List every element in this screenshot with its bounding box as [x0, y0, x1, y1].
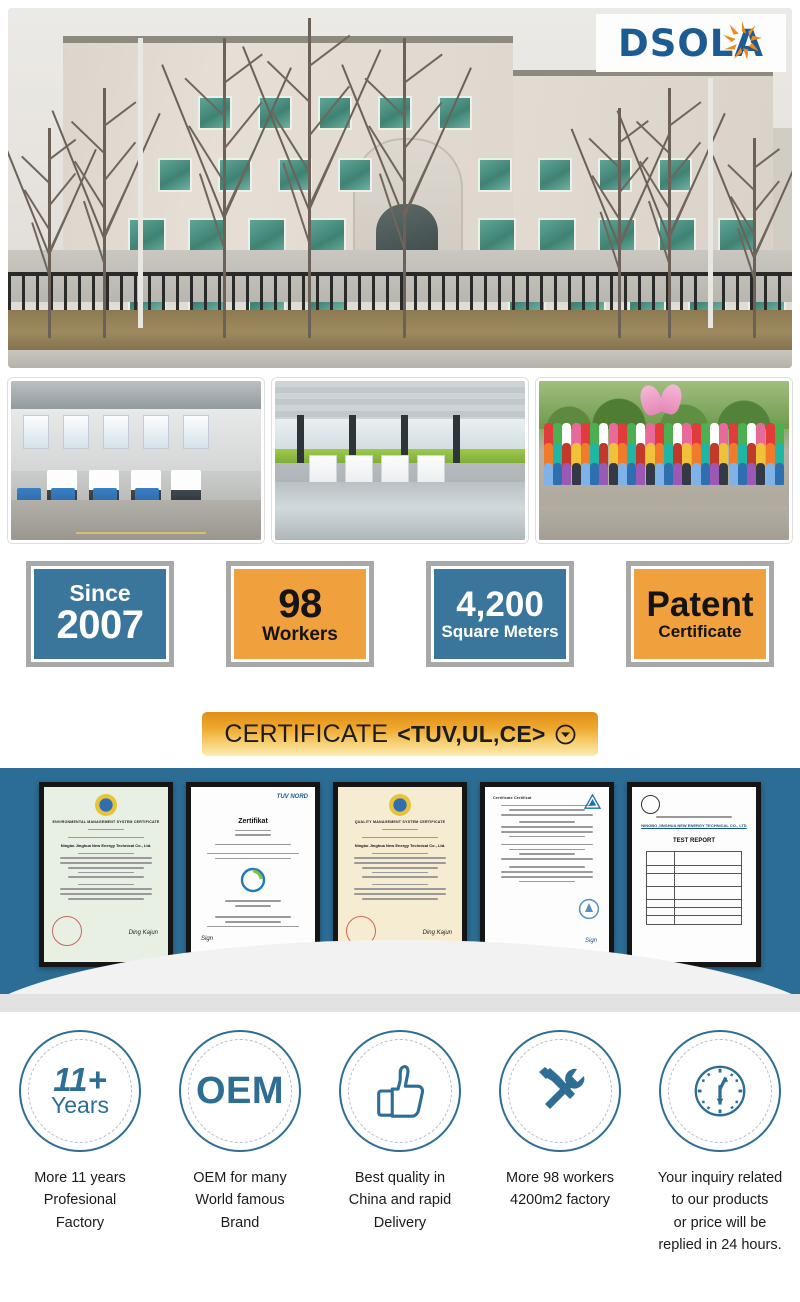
agency-triangle-icon [584, 794, 601, 809]
test-lab-logo-icon [641, 795, 660, 814]
caption-line: Delivery [349, 1212, 451, 1234]
feature-years: 11+ Years More 11 years Profesional Fact… [0, 1030, 160, 1302]
caption-line: World famous [193, 1189, 286, 1211]
tuv-nord-zertifikat[interactable]: TUV NORD Zertifikat Sign [186, 782, 320, 967]
tuv-seal-icon [240, 867, 266, 893]
gray-base-band [0, 994, 800, 1012]
company-team-group-photo [536, 378, 792, 543]
caption-line: 4200m2 factory [506, 1189, 614, 1211]
thumbs-up-icon [369, 1060, 431, 1122]
sun-burst-icon [721, 20, 763, 62]
caption-line: Factory [34, 1212, 126, 1234]
feature-caption: Best quality in China and rapid Delivery [349, 1167, 451, 1234]
stat-value: 2007 [57, 605, 144, 646]
certificate-title: ENVIRONMENTAL MANAGEMENT SYSTEM CERTIFIC… [52, 820, 159, 824]
caption-line: Your inquiry related [658, 1167, 782, 1189]
stat-label-sub: Workers [262, 625, 338, 644]
years-badge-value: 11+ [53, 1065, 107, 1095]
hammer-wrench-icon [528, 1059, 592, 1123]
certificate-company: Ningbo Jinghua New Energy Technical Co.,… [355, 843, 446, 848]
injection-molding-workshop-photo [8, 378, 264, 543]
light-pole-left [138, 38, 143, 328]
stat-value: 98 [278, 584, 322, 625]
clock-icon [689, 1060, 751, 1122]
certificate-banner: CERTIFICATE <TUV,UL,CE> [202, 712, 597, 756]
caption-line: or price will be [658, 1212, 782, 1234]
hedge-row [8, 310, 792, 354]
test-report-table [646, 851, 741, 925]
factory-photo-row [8, 378, 792, 543]
caption-line: replied in 24 hours. [658, 1234, 782, 1256]
caption-line: More 11 years [34, 1167, 126, 1189]
certificate-title: TEST REPORT [673, 838, 715, 844]
certificate-company: NINGBO JINGHUA NEW ENERGY TECHNICAL CO.,… [641, 823, 746, 828]
certificate-title: QUALITY MANAGEMENT SYSTEM CERTIFICATE [355, 820, 446, 824]
caption-line: Profesional [34, 1189, 126, 1211]
feature-capacity: More 98 workers 4200m2 factory [480, 1030, 640, 1302]
feature-quality: Best quality in China and rapid Delivery [320, 1030, 480, 1302]
caption-line: to our products [658, 1189, 782, 1211]
stat-since-2007: Since 2007 [26, 561, 174, 667]
caption-line: More 98 workers [506, 1167, 614, 1189]
stat-4200-square-meters: 4,200 Square Meters [426, 561, 574, 667]
years-badge-label: Years [51, 1094, 109, 1117]
years-badge-icon: 11+ Years [19, 1030, 141, 1152]
certificate-banner-title: CERTIFICATE [224, 720, 388, 749]
hero-building-photo: DSOLA [8, 8, 792, 368]
stat-label-top: Since [69, 582, 130, 605]
stat-label-sub: Certificate [658, 623, 741, 640]
certificate-company: Ningbo Jinghua New Energy Technical Co.,… [61, 843, 152, 848]
stat-patent-certificate: Patent Certificate [626, 561, 774, 667]
certificate-banner-tags: <TUV,UL,CE> [397, 721, 545, 748]
butterfly-sculpture [639, 383, 685, 417]
light-pole-right [708, 78, 713, 328]
chevron-down-circle-icon[interactable] [555, 724, 576, 745]
certificat-certificate[interactable]: Certificate Certificat Sign [480, 782, 614, 967]
company-logo: DSOLA [596, 14, 786, 72]
road [8, 350, 792, 368]
caption-line: Brand [193, 1212, 286, 1234]
test-report-certificate[interactable]: NINGBO JINGHUA NEW ENERGY TECHNICAL CO.,… [627, 782, 761, 967]
tuv-nord-logo: TUV NORD [277, 794, 308, 800]
stats-row: Since 2007 98 Workers 4,200 Square Meter… [0, 556, 800, 672]
feature-caption: More 98 workers 4200m2 factory [506, 1167, 614, 1212]
caption-line: Best quality in [349, 1167, 451, 1189]
caption-line: China and rapid [349, 1189, 451, 1211]
environmental-management-system-certificate[interactable]: ENVIRONMENTAL MANAGEMENT SYSTEM CERTIFIC… [39, 782, 173, 967]
certificate-title: Zertifikat [238, 818, 268, 825]
oem-badge-value: OEM [196, 1070, 284, 1113]
feature-oem: OEM OEM for many World famous Brand [160, 1030, 320, 1302]
stat-98-workers: 98 Workers [226, 561, 374, 667]
certificates-gallery: ENVIRONMENTAL MANAGEMENT SYSTEM CERTIFIC… [0, 768, 800, 1012]
oem-badge-icon: OEM [179, 1030, 301, 1152]
feature-caption: Your inquiry related to our products or … [658, 1167, 782, 1257]
stat-value: Patent [647, 587, 754, 623]
agency-round-seal-icon [578, 898, 600, 920]
feature-caption: OEM for many World famous Brand [193, 1167, 286, 1234]
stat-label-sub: Square Meters [441, 623, 558, 640]
feature-response: Your inquiry related to our products or … [640, 1030, 800, 1302]
assembly-line-workshop-photo [272, 378, 528, 543]
certificate-seal-icon [95, 794, 117, 816]
certificate-seal-icon [389, 794, 411, 816]
feature-caption: More 11 years Profesional Factory [34, 1167, 126, 1234]
stat-value: 4,200 [456, 587, 544, 623]
caption-line: OEM for many [193, 1167, 286, 1189]
features-row: 11+ Years More 11 years Profesional Fact… [0, 1030, 800, 1302]
